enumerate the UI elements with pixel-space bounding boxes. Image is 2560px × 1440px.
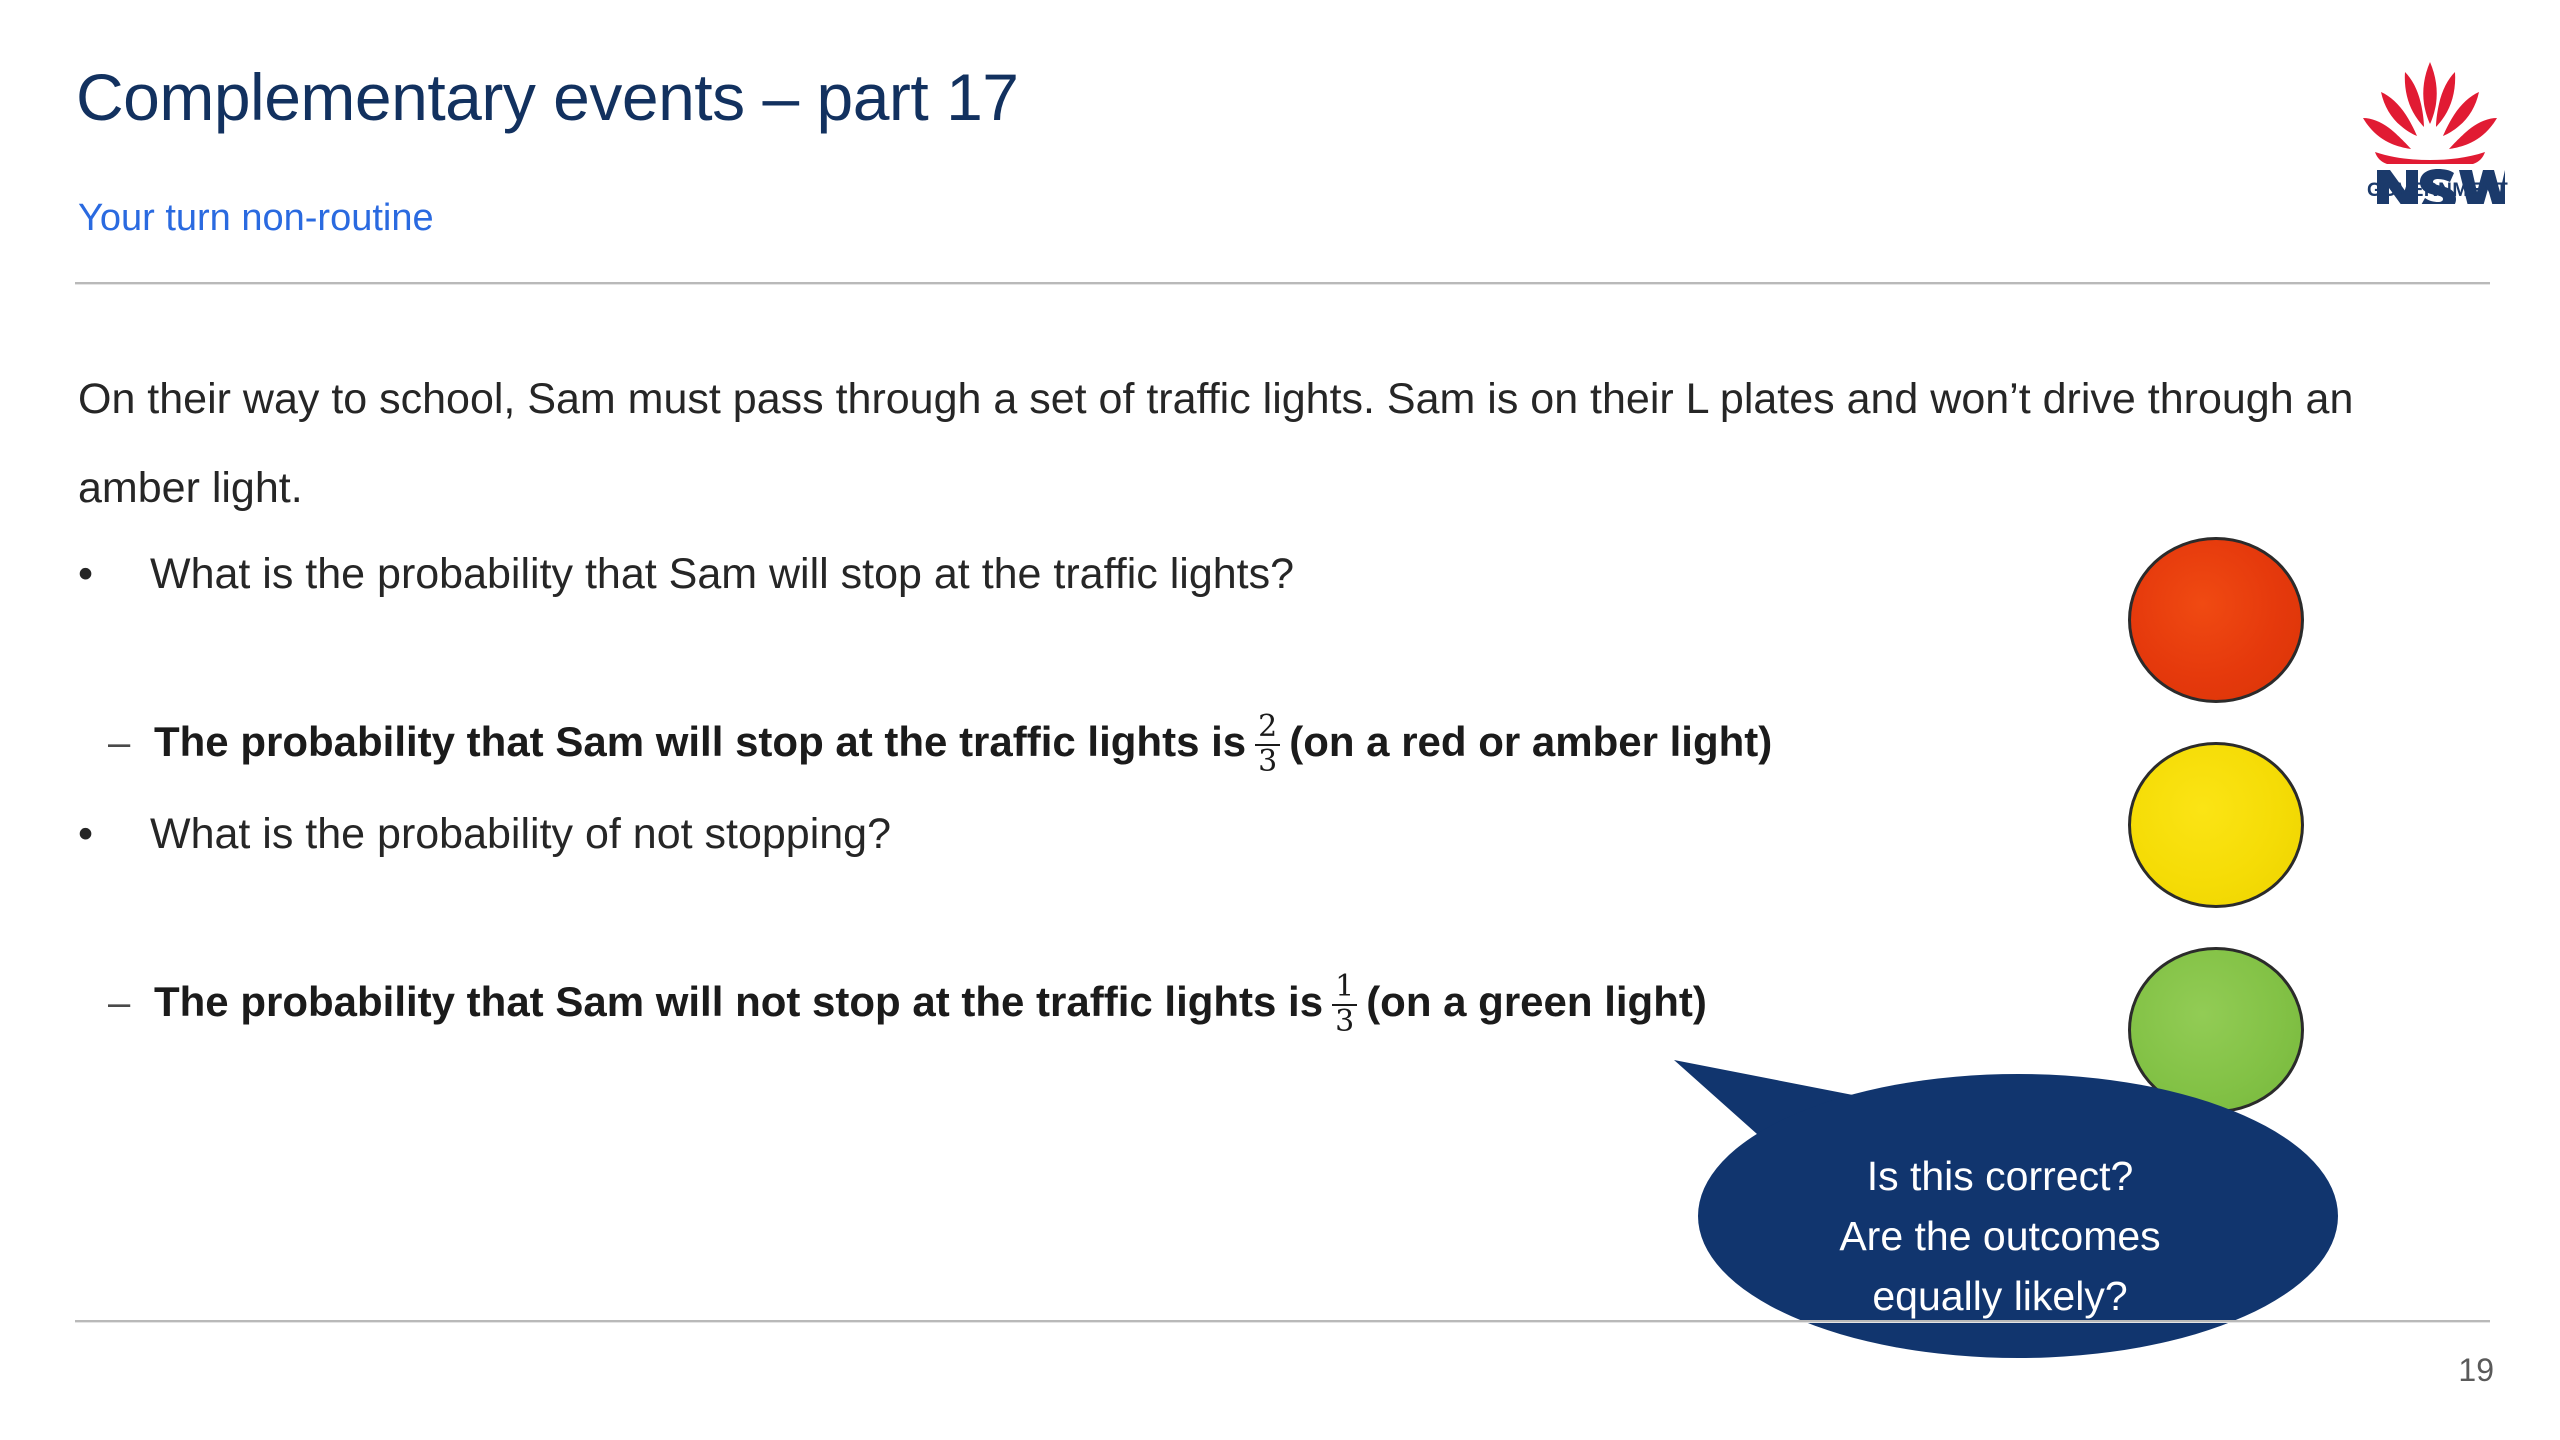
page-title: Complementary events – part 17	[76, 58, 1018, 136]
speech-bubble-line-1: Is this correct?	[1750, 1146, 2250, 1206]
amber-light	[2128, 742, 2304, 908]
waratah-icon	[2363, 62, 2497, 164]
answer-2-suffix: (on a green light)	[1366, 976, 1707, 1029]
answer-1-prefix: The probability that Sam will stop at th…	[154, 716, 1246, 769]
speech-bubble-line-3: equally likely?	[1750, 1266, 2250, 1326]
fraction-denominator: 3	[1332, 1004, 1357, 1038]
sub-bullet-marker: –	[108, 723, 154, 763]
list-item-label: What is the probability of not stopping?	[150, 808, 891, 862]
fraction-numerator: 2	[1255, 712, 1280, 744]
list-item-question-2: • What is the probability of not stoppin…	[78, 808, 891, 862]
answer-2-prefix: The probability that Sam will not stop a…	[154, 976, 1323, 1029]
list-item-question-1: • What is the probability that Sam will …	[78, 548, 1294, 602]
speech-bubble-line-2: Are the outcomes	[1750, 1206, 2250, 1266]
header-divider	[75, 282, 2490, 285]
nsw-government-logo: NSW GOVERNMENT	[2355, 52, 2505, 204]
answer-1-suffix: (on a red or amber light)	[1289, 716, 1772, 769]
slide-canvas: Complementary events – part 17 Your turn…	[0, 0, 2560, 1440]
speech-bubble-text: Is this correct? Are the outcomes equall…	[1750, 1146, 2250, 1326]
fraction-numerator: 1	[1332, 972, 1357, 1004]
fraction-denominator: 3	[1255, 744, 1280, 778]
footer-divider	[75, 1320, 2490, 1323]
bullet-marker: •	[78, 813, 150, 856]
page-number: 19	[2458, 1352, 2494, 1389]
list-item-answer-2: – The probability that Sam will not stop…	[108, 970, 1707, 1035]
sub-bullet-marker: –	[108, 983, 154, 1023]
answer-2-text: The probability that Sam will not stop a…	[154, 970, 1707, 1035]
speech-bubble: Is this correct? Are the outcomes equall…	[1660, 1048, 2340, 1358]
fraction-two-thirds: 2 3	[1255, 712, 1280, 777]
logo-government-text: GOVERNMENT	[2367, 180, 2495, 202]
red-light	[2128, 537, 2304, 703]
answer-1-text: The probability that Sam will stop at th…	[154, 710, 1772, 775]
intro-paragraph: On their way to school, Sam must pass th…	[78, 355, 2418, 533]
bullet-marker: •	[78, 553, 150, 596]
list-item-label: What is the probability that Sam will st…	[150, 548, 1294, 602]
fraction-one-third: 1 3	[1332, 972, 1357, 1037]
page-subtitle: Your turn non-routine	[78, 195, 434, 241]
list-item-answer-1: – The probability that Sam will stop at …	[108, 710, 1772, 775]
